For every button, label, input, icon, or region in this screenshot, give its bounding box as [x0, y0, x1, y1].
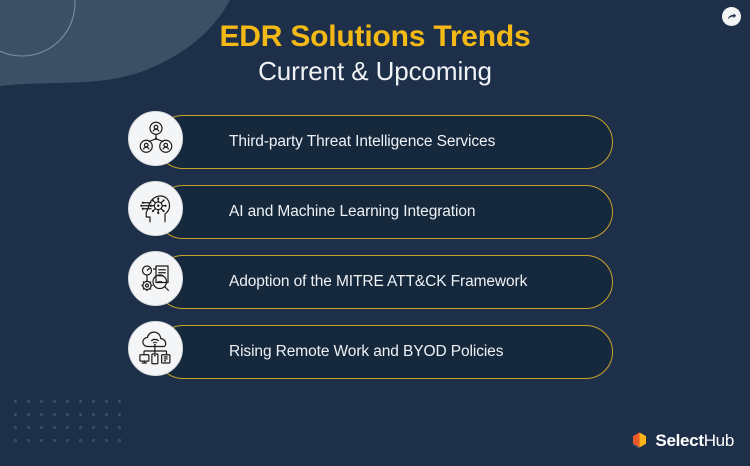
page-subtitle: Current & Upcoming — [0, 56, 750, 87]
header: EDR Solutions Trends Current & Upcoming — [0, 0, 750, 87]
trends-list: Third-party Threat Intelligence Services… — [0, 111, 750, 391]
selecthub-cube-icon — [630, 431, 649, 450]
trend-pill[interactable]: Adoption of the MITRE ATT&CK Framework — [156, 255, 613, 309]
selecthub-wordmark: SelectHub — [655, 432, 734, 449]
trend-pill[interactable]: AI and Machine Learning Integration — [156, 185, 613, 239]
trend-pill[interactable]: Third-party Threat Intelligence Services — [156, 115, 613, 169]
trend-label: Rising Remote Work and BYOD Policies — [229, 343, 503, 361]
share-arrow-icon — [726, 11, 737, 22]
dot-grid-decoration — [14, 400, 131, 452]
selecthub-logo[interactable]: SelectHub — [630, 431, 734, 450]
trend-label: Adoption of the MITRE ATT&CK Framework — [229, 273, 527, 291]
cloud-devices-wifi-icon — [128, 321, 183, 376]
logo-name-regular: Hub — [704, 431, 734, 450]
list-item[interactable]: Rising Remote Work and BYOD Policies — [128, 321, 750, 391]
trend-label: AI and Machine Learning Integration — [229, 203, 475, 221]
logo-name-bold: Select — [655, 431, 703, 450]
trend-pill[interactable]: Rising Remote Work and BYOD Policies — [156, 325, 613, 379]
team-network-icon — [128, 111, 183, 166]
list-item[interactable]: AI and Machine Learning Integration — [128, 181, 750, 251]
list-item[interactable]: Third-party Threat Intelligence Services — [128, 111, 750, 181]
ai-brain-head-icon — [128, 181, 183, 236]
page-title: EDR Solutions Trends — [0, 20, 750, 54]
list-item[interactable]: Adoption of the MITRE ATT&CK Framework — [128, 251, 750, 321]
trend-label: Third-party Threat Intelligence Services — [229, 133, 495, 151]
share-button[interactable] — [722, 7, 741, 26]
document-magnifier-gear-icon — [128, 251, 183, 306]
